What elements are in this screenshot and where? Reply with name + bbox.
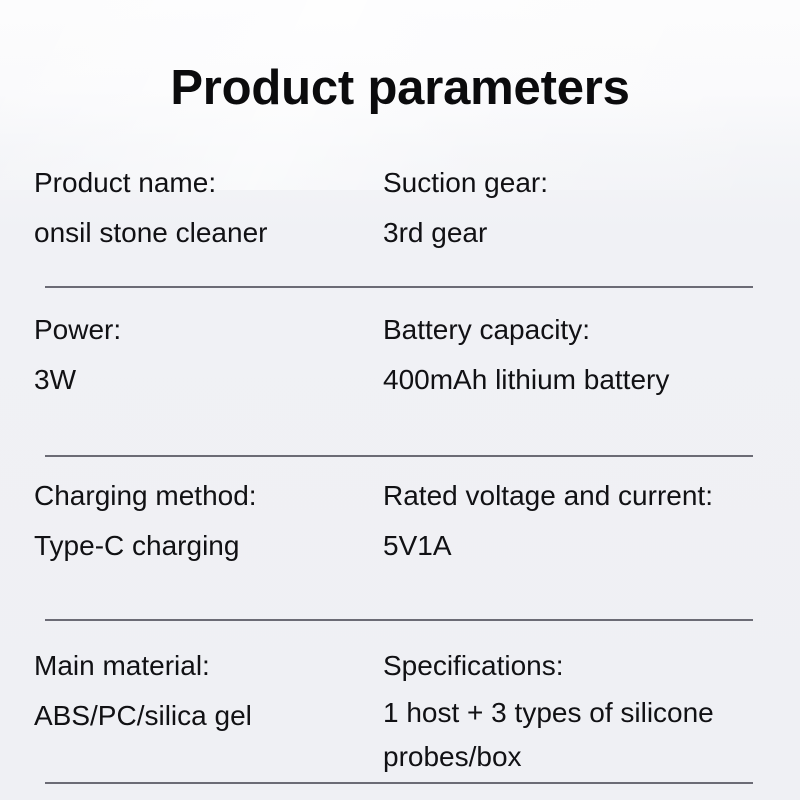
spec-cell-right: Specifications: 1 host + 3 types of sili…	[383, 641, 800, 779]
spec-cell-left: Product name: onsil stone cleaner	[34, 158, 383, 258]
spec-label: Rated voltage and current:	[383, 471, 800, 521]
spec-label: Power:	[34, 305, 383, 355]
spec-label: Main material:	[34, 641, 383, 691]
spec-cell-right: Suction gear: 3rd gear	[383, 158, 800, 258]
spec-row: Main material: ABS/PC/silica gel Specifi…	[0, 619, 800, 782]
spec-value: 3W	[34, 355, 383, 405]
product-parameters-sheet: Product parameters Product name: onsil s…	[0, 0, 800, 800]
spec-row: Power: 3W Battery capacity: 400mAh lithi…	[0, 286, 800, 455]
spec-cell-left: Power: 3W	[34, 305, 383, 405]
spec-cell-right: Battery capacity: 400mAh lithium battery	[383, 305, 800, 405]
row-divider	[45, 619, 753, 621]
spec-label: Battery capacity:	[383, 305, 800, 355]
row-divider	[45, 286, 753, 288]
spec-value: onsil stone cleaner	[34, 208, 383, 258]
spec-value: 400mAh lithium battery	[383, 355, 800, 405]
spec-value: ABS/PC/silica gel	[34, 691, 383, 741]
spec-label: Charging method:	[34, 471, 383, 521]
spec-table: Product name: onsil stone cleaner Suctio…	[0, 158, 800, 782]
row-divider	[45, 455, 753, 457]
spec-label: Specifications:	[383, 641, 800, 691]
spec-row: Charging method: Type-C charging Rated v…	[0, 455, 800, 619]
row-divider	[45, 782, 753, 784]
spec-cell-right: Rated voltage and current: 5V1A	[383, 471, 800, 571]
spec-cell-left: Charging method: Type-C charging	[34, 471, 383, 571]
spec-value: 5V1A	[383, 521, 800, 571]
spec-value: Type-C charging	[34, 521, 383, 571]
page-title: Product parameters	[0, 58, 800, 118]
spec-cell-left: Main material: ABS/PC/silica gel	[34, 641, 383, 741]
spec-label: Suction gear:	[383, 158, 800, 208]
spec-row: Product name: onsil stone cleaner Suctio…	[0, 158, 800, 286]
spec-value: 1 host + 3 types of silicone probes/box	[383, 691, 800, 779]
spec-label: Product name:	[34, 158, 383, 208]
spec-value: 3rd gear	[383, 208, 800, 258]
